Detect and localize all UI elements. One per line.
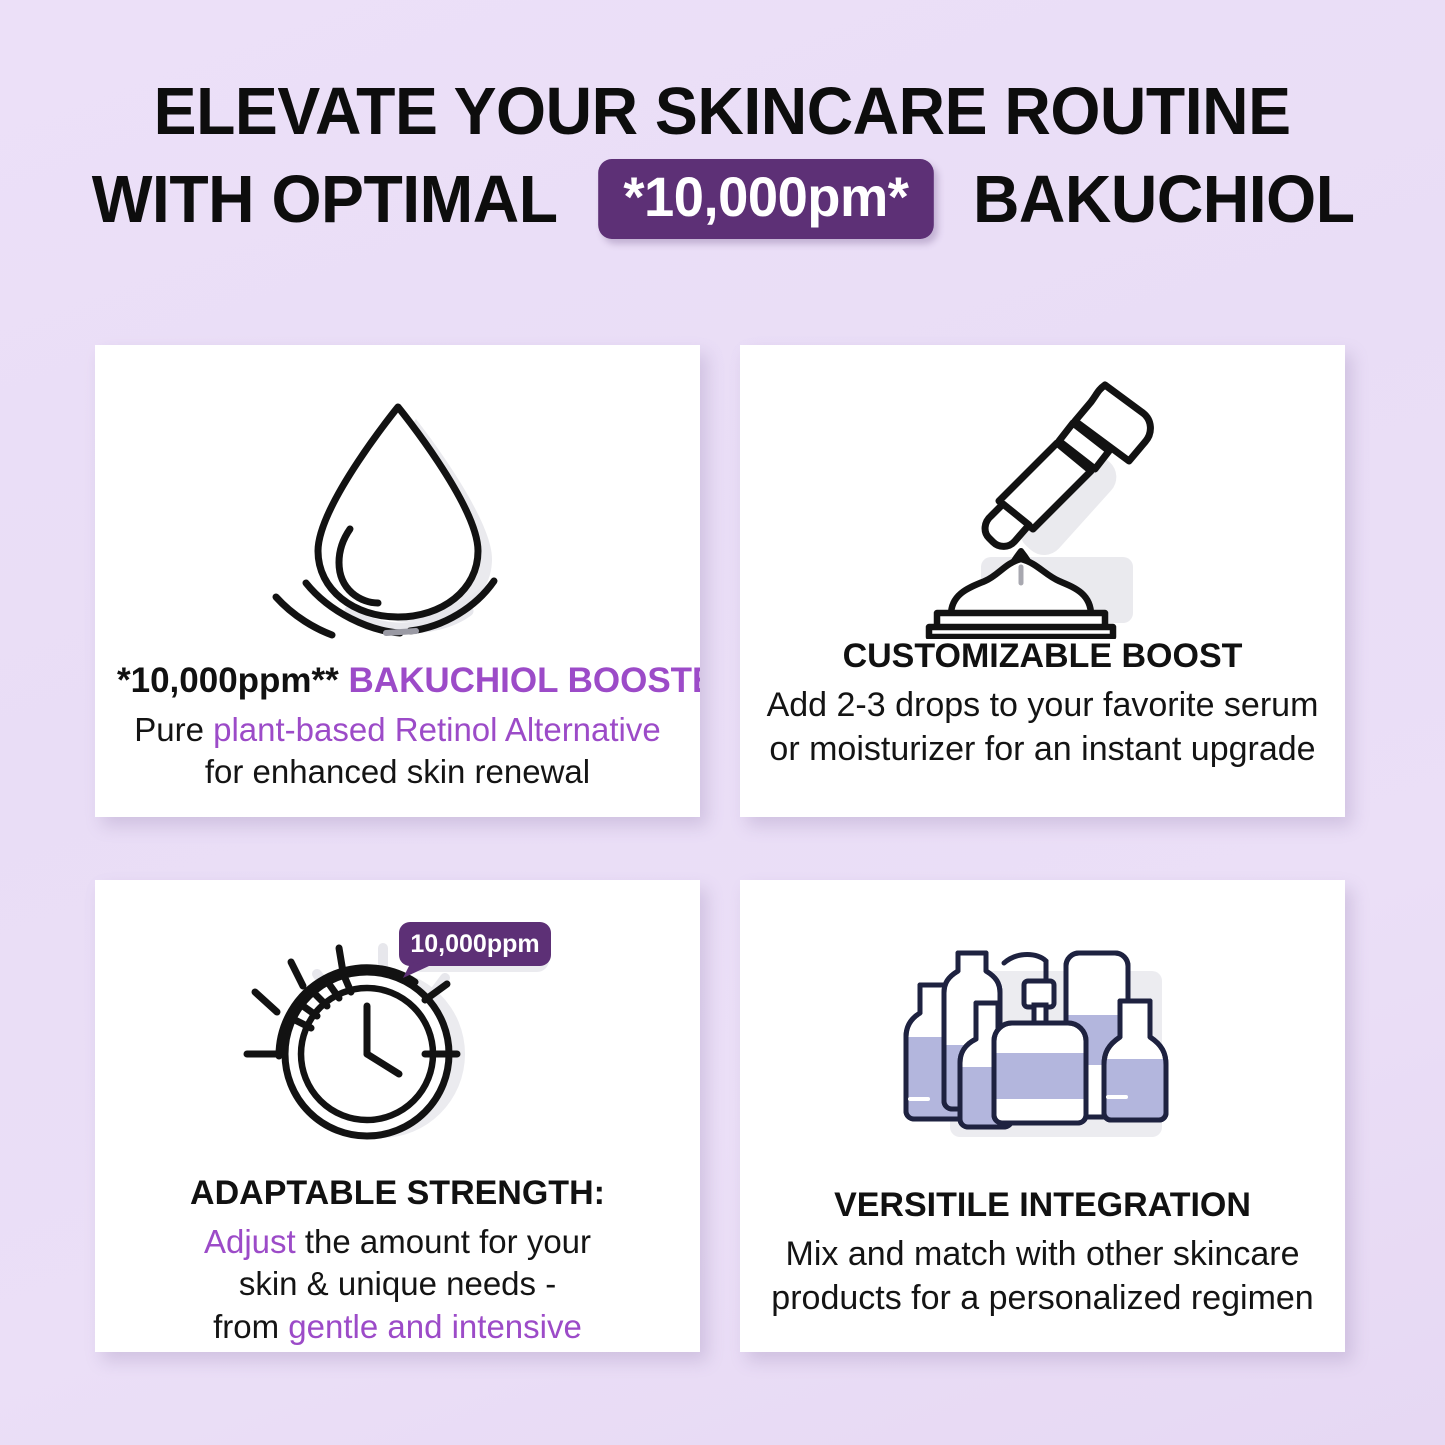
card-2-body: Add 2-3 drops to your favorite serum or … (762, 684, 1323, 771)
card-3-body-rest: the amount for your (296, 1223, 591, 1260)
card-1-body-line-1: Pure plant-based Retinol Alternative (117, 709, 678, 751)
headline-bakuchiol: BAKUCHIOL (973, 166, 1355, 233)
card-4-body-line-1: Mix and match with other skincare (762, 1233, 1323, 1277)
card-4-body: Mix and match with other skincare produc… (762, 1233, 1323, 1320)
card-adaptable-strength: 10,000ppm ADAPTABLE STRENGTH: Adjust the… (95, 880, 700, 1352)
card-3-body-line-1: Adjust the amount for your (117, 1221, 678, 1263)
card-4-title: VERSITILE INTEGRATION (762, 1186, 1323, 1225)
card-3-body-accent: Adjust (204, 1223, 296, 1260)
card-1-text: *10,000ppm** BAKUCHIOL BOOSTER: Pure pla… (95, 661, 700, 794)
headline-line-2: WITH OPTIMAL *10,000pm* BAKUCHIOL (0, 159, 1445, 239)
card-2-text: CUSTOMIZABLE BOOST Add 2-3 drops to your… (740, 637, 1345, 771)
card-4-body-line-2: products for a personalized regimen (762, 1277, 1323, 1321)
card-3-body-line3-prefix: from (213, 1308, 288, 1345)
clock-icon: 10,000ppm (95, 880, 700, 1168)
card-3-body-line3-accent: gentle and intensive (288, 1308, 582, 1345)
skincare-bottles-icon (740, 880, 1345, 1172)
card-2-body-line-1: Add 2-3 drops to your favorite serum (762, 684, 1323, 728)
feature-card-grid: *10,000ppm** BAKUCHIOL BOOSTER: Pure pla… (95, 345, 1345, 1352)
card-3-body-line-3: from gentle and intensive (117, 1306, 678, 1348)
water-droplet-icon (95, 345, 700, 657)
headline-line-1-text: ELEVATE YOUR SKINCARE ROUTINE (154, 78, 1291, 145)
svg-text:10,000ppm: 10,000ppm (410, 930, 539, 958)
card-1-title: *10,000ppm** BAKUCHIOL BOOSTER: (117, 661, 678, 701)
headline-line-1: ELEVATE YOUR SKINCARE ROUTINE (0, 78, 1445, 145)
card-1-body-line-2: for enhanced skin renewal (117, 751, 678, 793)
card-1-title-accent: BAKUCHIOL BOOSTER: (349, 661, 700, 700)
infographic-page: ELEVATE YOUR SKINCARE ROUTINE WITH OPTIM… (0, 0, 1445, 1445)
card-1-title-prefix: *10,000ppm** (117, 661, 349, 700)
card-2-body-line-2: or moisturizer for an instant upgrade (762, 728, 1323, 772)
card-3-body: Adjust the amount for your skin & unique… (117, 1221, 678, 1348)
headline-with-optimal: WITH OPTIMAL (92, 166, 558, 233)
card-3-title: ADAPTABLE STRENGTH: (117, 1174, 678, 1213)
card-1-body: Pure plant-based Retinol Alternative for… (117, 709, 678, 793)
card-2-title: CUSTOMIZABLE BOOST (762, 637, 1323, 676)
card-bakuchiol-booster: *10,000ppm** BAKUCHIOL BOOSTER: Pure pla… (95, 345, 700, 817)
card-3-text: ADAPTABLE STRENGTH: Adjust the amount fo… (95, 1174, 700, 1348)
card-customizable-boost: CUSTOMIZABLE BOOST Add 2-3 drops to your… (740, 345, 1345, 817)
card-4-text: VERSITILE INTEGRATION Mix and match with… (740, 1186, 1345, 1320)
header: ELEVATE YOUR SKINCARE ROUTINE WITH OPTIM… (0, 78, 1445, 239)
card-1-body-accent: plant-based Retinol Alternative (213, 711, 661, 748)
dropper-jar-icon (740, 345, 1345, 645)
card-3-body-line-2: skin & unique needs - (117, 1263, 678, 1305)
card-1-body-prefix: Pure (134, 711, 213, 748)
ppm-badge: *10,000pm* (599, 159, 934, 239)
card-versitile-integration: VERSITILE INTEGRATION Mix and match with… (740, 880, 1345, 1352)
